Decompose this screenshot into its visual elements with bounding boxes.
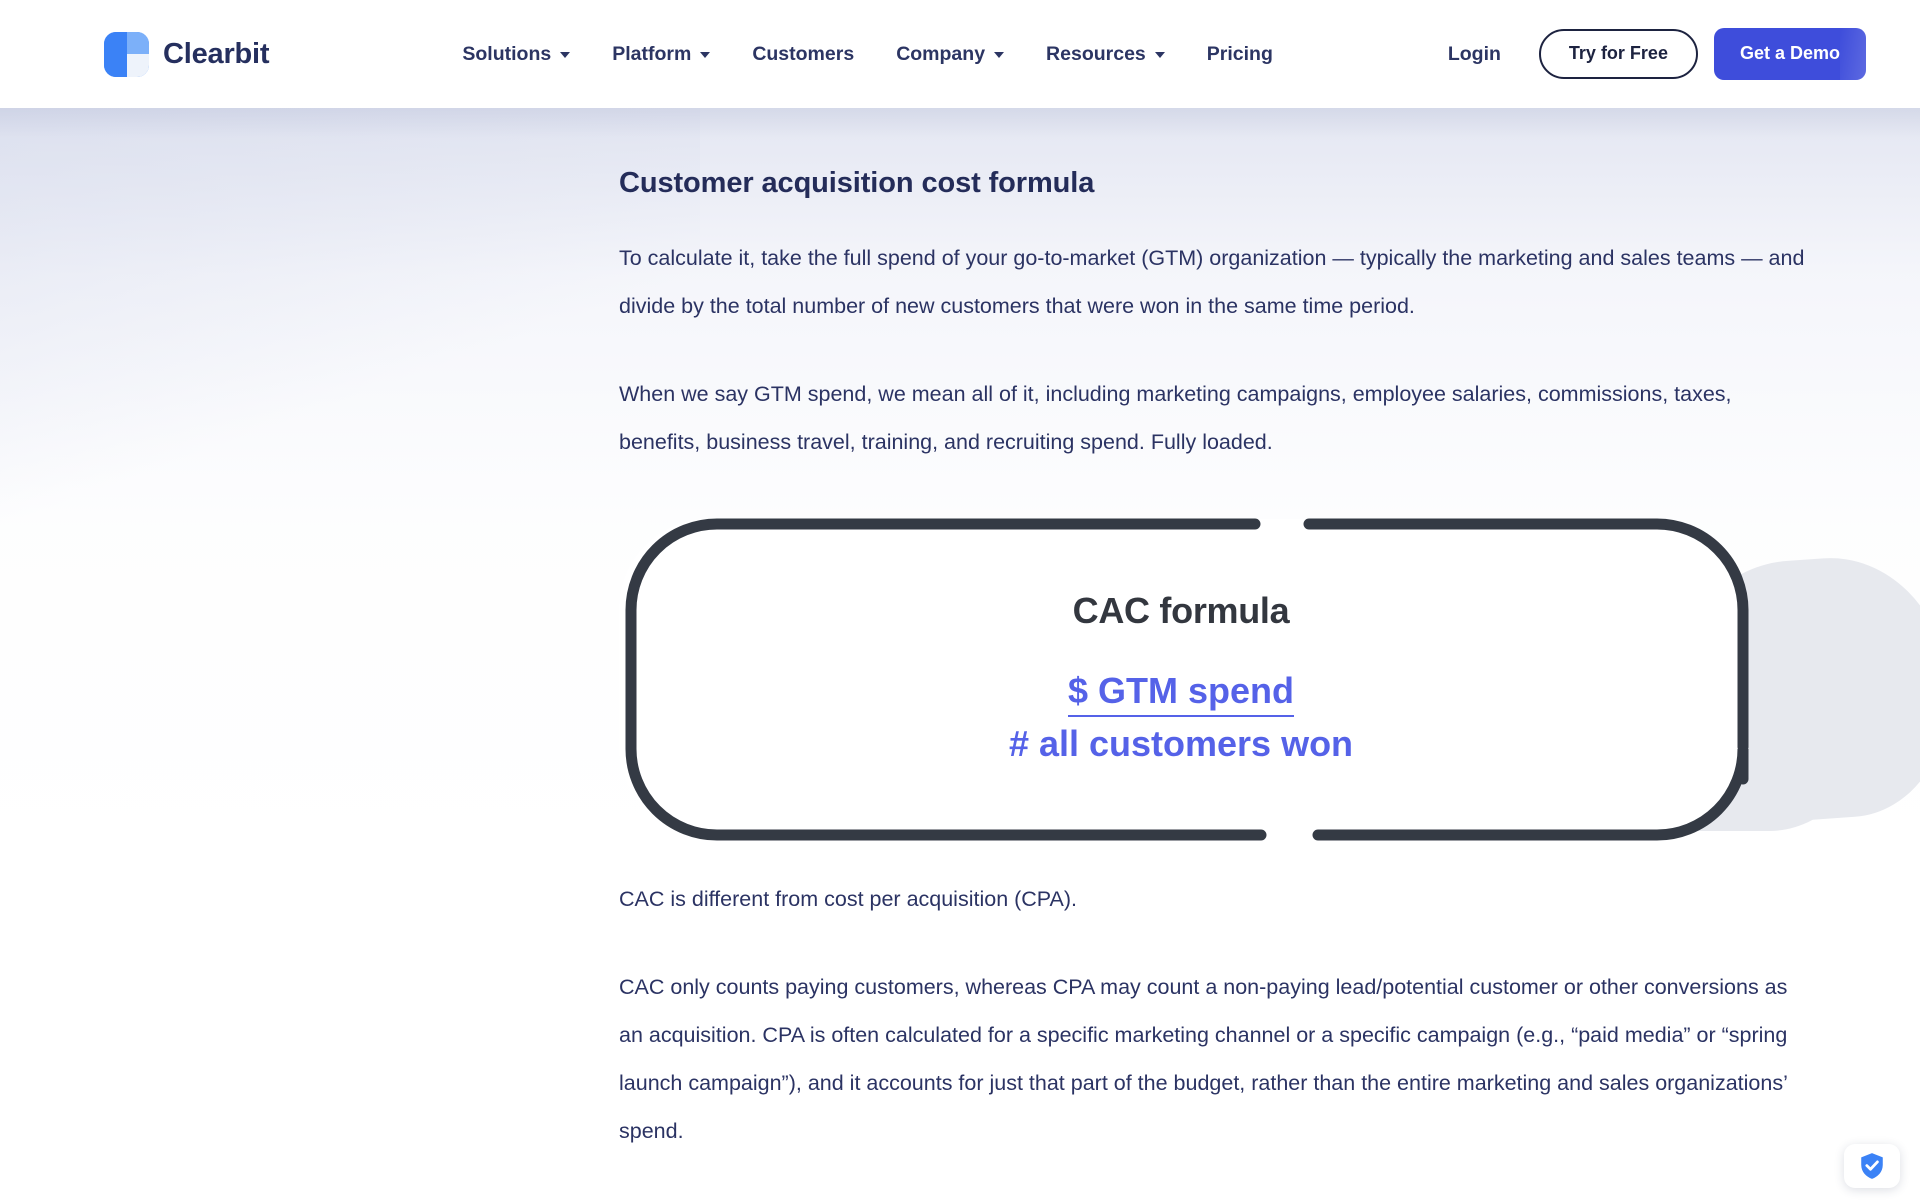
nav-item-solutions[interactable]: Solutions — [441, 33, 591, 76]
cac-fraction: $ GTM spend # all customers won — [1009, 670, 1353, 764]
site-header: Clearbit Solutions Platform Customers Co… — [0, 0, 1920, 108]
formula-card-content: CAC formula $ GTM spend # all customers … — [619, 519, 1743, 835]
background-wash-secondary — [0, 108, 700, 528]
primary-navigation: Solutions Platform Customers Company Res… — [441, 33, 1294, 76]
paragraph-cpa-detail: CAC only counts paying customers, wherea… — [619, 963, 1809, 1155]
chevron-down-icon — [1155, 52, 1165, 58]
paragraph-calculate: To calculate it, take the full spend of … — [619, 234, 1809, 330]
fraction-denominator: # all customers won — [1009, 723, 1353, 764]
nav-item-platform[interactable]: Platform — [591, 33, 731, 76]
chevron-down-icon — [994, 52, 1004, 58]
nav-item-customers[interactable]: Customers — [731, 33, 875, 76]
paragraph-cac-vs-cpa: CAC is different from cost per acquisiti… — [619, 875, 1809, 923]
nav-item-label: Pricing — [1207, 43, 1273, 66]
login-link[interactable]: Login — [1428, 33, 1521, 76]
nav-item-resources[interactable]: Resources — [1025, 33, 1186, 76]
brand-name: Clearbit — [163, 38, 269, 71]
clearbit-logo-icon — [104, 32, 149, 77]
shield-check-icon — [1859, 1152, 1885, 1180]
nav-item-label: Customers — [752, 43, 854, 66]
nav-item-company[interactable]: Company — [875, 33, 1025, 76]
article-body: Customer acquisition cost formula To cal… — [619, 108, 1809, 1155]
header-actions: Login Try for Free Get a Demo — [1428, 28, 1866, 80]
chevron-down-icon — [560, 52, 570, 58]
paragraph-gtm-spend: When we say GTM spend, we mean all of it… — [619, 370, 1809, 466]
nav-item-label: Platform — [612, 43, 691, 66]
nav-item-label: Company — [896, 43, 985, 66]
nav-item-label: Solutions — [462, 43, 551, 66]
nav-item-label: Resources — [1046, 43, 1146, 66]
page-title: Customer acquisition cost formula — [619, 167, 1809, 200]
cac-formula-figure: CAC formula $ GTM spend # all customers … — [619, 511, 1809, 841]
fraction-numerator: $ GTM spend — [1068, 670, 1294, 716]
trust-badge-button[interactable] — [1844, 1144, 1900, 1188]
chevron-down-icon — [700, 52, 710, 58]
nav-item-pricing[interactable]: Pricing — [1186, 33, 1294, 76]
formula-title: CAC formula — [1073, 590, 1290, 632]
try-for-free-button[interactable]: Try for Free — [1539, 29, 1698, 79]
brand-logo-link[interactable]: Clearbit — [104, 32, 269, 77]
page-root: Clearbit Solutions Platform Customers Co… — [0, 0, 1920, 1200]
get-a-demo-button[interactable]: Get a Demo — [1714, 28, 1866, 80]
